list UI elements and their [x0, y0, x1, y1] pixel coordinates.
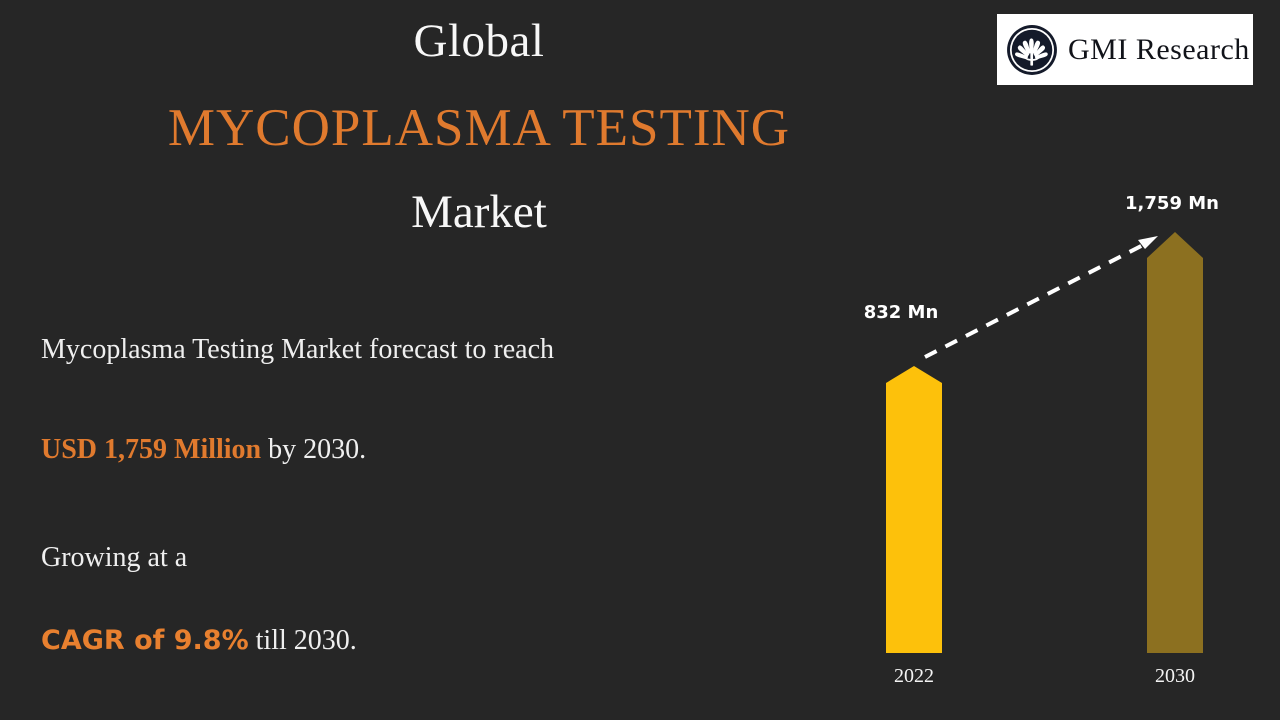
- forecast-value-line: USD 1,759 Million by 2030.: [41, 436, 761, 464]
- value-label-2030: 1,759 Mn: [1125, 193, 1219, 214]
- bar-2030: [1147, 232, 1203, 653]
- forecast-value-accent: USD 1,759 Million: [41, 434, 261, 465]
- headline-line-bottom: Market: [0, 189, 958, 236]
- cagr-line: CAGR of 9.8% till 2030.: [41, 627, 761, 655]
- body-copy-block: Mycoplasma Testing Market forecast to re…: [41, 336, 761, 655]
- year-label-2030: 2030: [1155, 665, 1195, 687]
- year-label-2022: 2022: [894, 665, 934, 687]
- forecast-line: Mycoplasma Testing Market forecast to re…: [41, 336, 761, 364]
- cagr-accent: CAGR of 9.8%: [41, 625, 249, 656]
- brand-logo-text: GMI Research: [1068, 33, 1250, 67]
- growth-arrow-line: [925, 244, 1145, 357]
- headline-line-top: Global: [0, 18, 958, 65]
- gmi-palm-emblem-icon: [1003, 21, 1061, 79]
- value-label-2022: 832 Mn: [864, 302, 939, 323]
- growth-line: Growing at a: [41, 544, 761, 572]
- cagr-rest: till 2030.: [249, 625, 357, 656]
- bar-2022: [886, 366, 942, 653]
- infographic-slide: GMI Research Global MYCOPLASMA TESTING M…: [0, 0, 1280, 720]
- market-growth-chart: 832 Mn 1,759 Mn 2022 2030: [840, 170, 1270, 700]
- brand-logo: GMI Research: [997, 14, 1253, 85]
- headline-line-main: MYCOPLASMA TESTING: [0, 102, 958, 155]
- headline-block: Global MYCOPLASMA TESTING Market: [0, 18, 958, 236]
- forecast-value-rest: by 2030.: [261, 434, 366, 465]
